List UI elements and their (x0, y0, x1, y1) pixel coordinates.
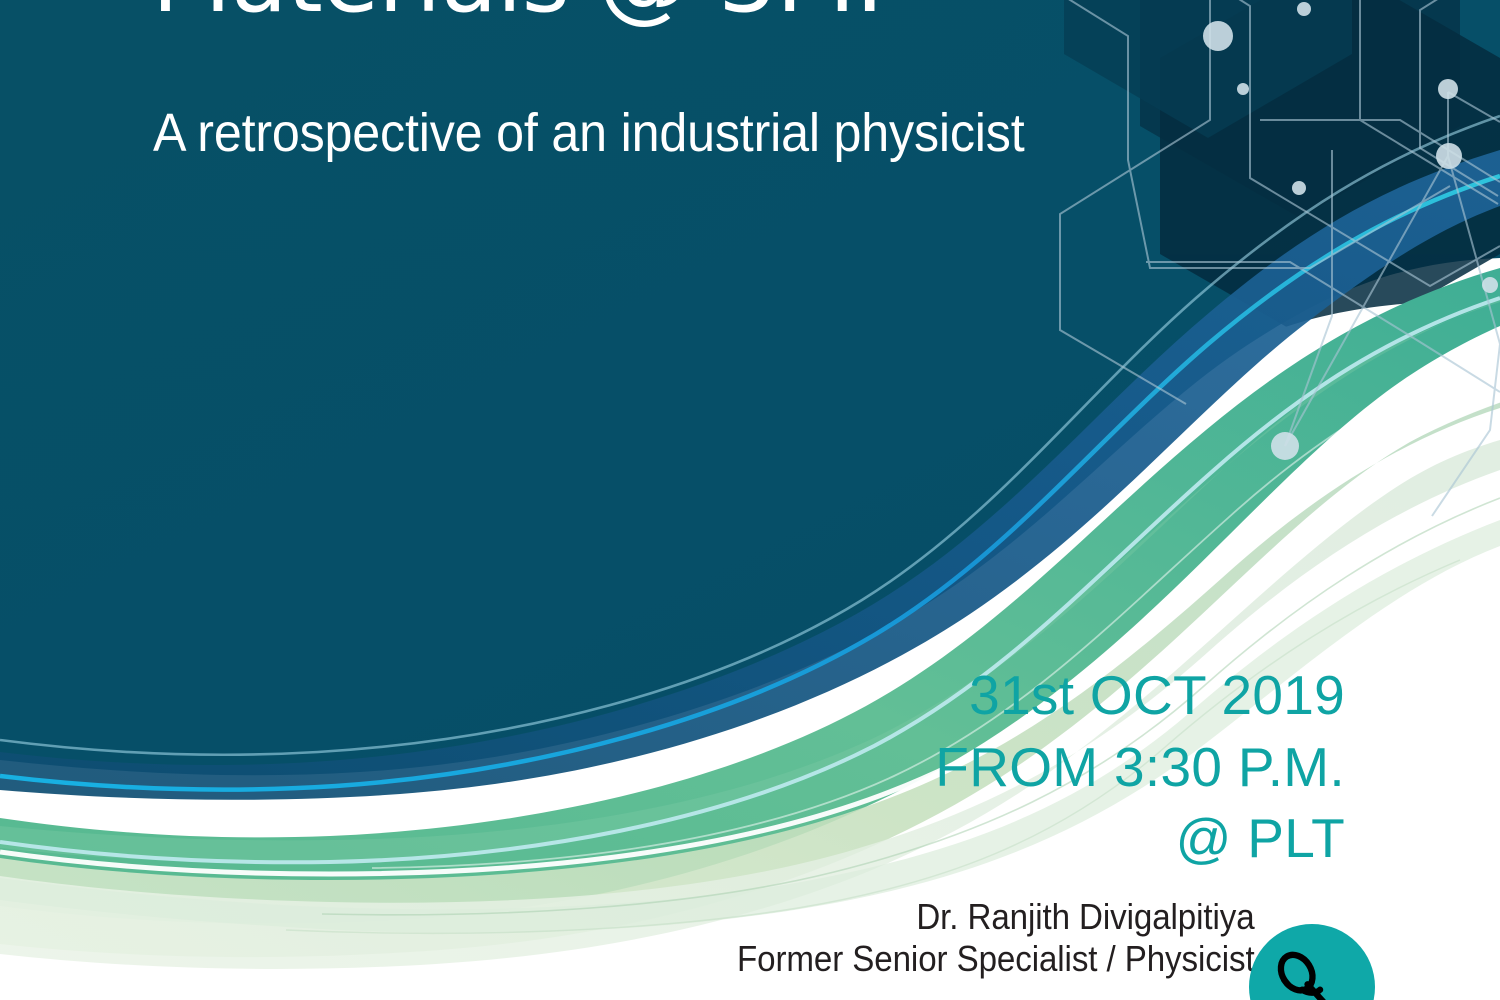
event-time: FROM 3:30 P.M. (935, 732, 1345, 804)
poster-canvas: Materials @ 3M. A retrospective of an in… (0, 0, 1500, 1000)
page-title: Materials @ 3M. (152, 0, 1152, 29)
event-details: 31st OCT 2019 FROM 3:30 P.M. @ PLT (935, 660, 1345, 875)
microphone-icon (1267, 942, 1357, 1000)
speaker-name: Dr. Ranjith Divigalpitiya (737, 896, 1255, 938)
page-subtitle: A retrospective of an industrial physici… (153, 104, 1176, 163)
speaker-role: Former Senior Specialist / Physicist (737, 938, 1255, 980)
event-venue: @ PLT (935, 803, 1345, 875)
event-date: 31st OCT 2019 (935, 660, 1345, 732)
speaker-block: Dr. Ranjith Divigalpitiya Former Senior … (737, 896, 1255, 981)
